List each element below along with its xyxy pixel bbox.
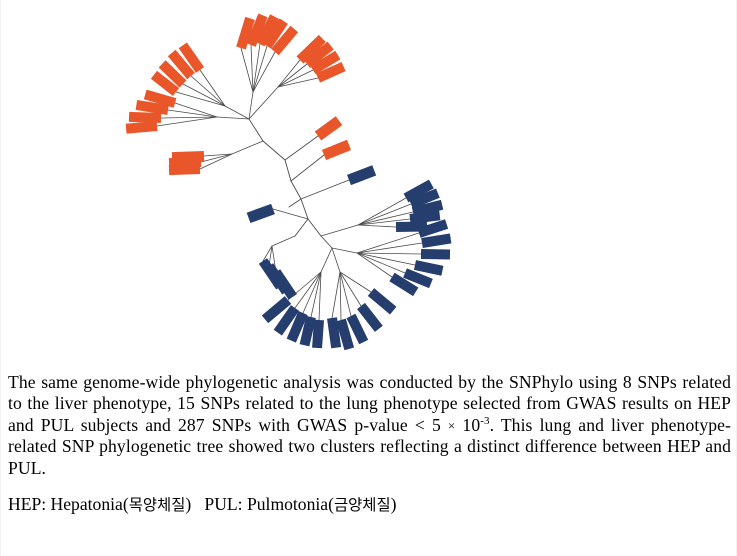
legend-pul-full: Pulmotonia( xyxy=(247,494,334,514)
leaf-label-hep[interactable] xyxy=(169,164,200,175)
legend-hep-abbr: HEP: xyxy=(8,494,46,514)
leaf-label-pul[interactable] xyxy=(421,249,450,260)
legend-pul-korean: 금양체질 xyxy=(334,496,391,514)
leaf-label-pul[interactable] xyxy=(347,165,376,185)
legend-hep-korean: 목양체질 xyxy=(129,496,186,514)
leaf-label-hep[interactable] xyxy=(322,140,351,160)
caption-base: 10 xyxy=(455,415,480,435)
document-page: The same genome-wide phylogenetic analys… xyxy=(0,0,737,556)
tree-backbone xyxy=(249,119,332,248)
legend-line: HEP: Hepatonia(목양체질) PUL: Pulmotonia(금양체… xyxy=(8,479,731,516)
leaf-label-pul[interactable] xyxy=(247,204,275,223)
leaf-label-pul[interactable] xyxy=(312,320,324,349)
legend-gap xyxy=(191,494,204,514)
hep-leaf-labels xyxy=(126,13,351,175)
legend-hep-full: Hepatonia( xyxy=(51,494,129,514)
caption-exponent: -3 xyxy=(480,415,489,427)
leaf-label-pul[interactable] xyxy=(368,288,397,314)
figure-caption-block: The same genome-wide phylogenetic analys… xyxy=(8,372,731,516)
tree-svg xyxy=(1,0,737,362)
pul-leaf-labels xyxy=(247,165,452,350)
caption-paragraph: The same genome-wide phylogenetic analys… xyxy=(8,372,731,479)
phylogenetic-tree-figure xyxy=(1,0,737,362)
leaf-label-hep[interactable] xyxy=(315,116,343,140)
leaf-label-hep[interactable] xyxy=(126,121,158,134)
legend-pul-abbr: PUL: xyxy=(204,494,242,514)
legend-pul-close: ) xyxy=(391,494,397,514)
